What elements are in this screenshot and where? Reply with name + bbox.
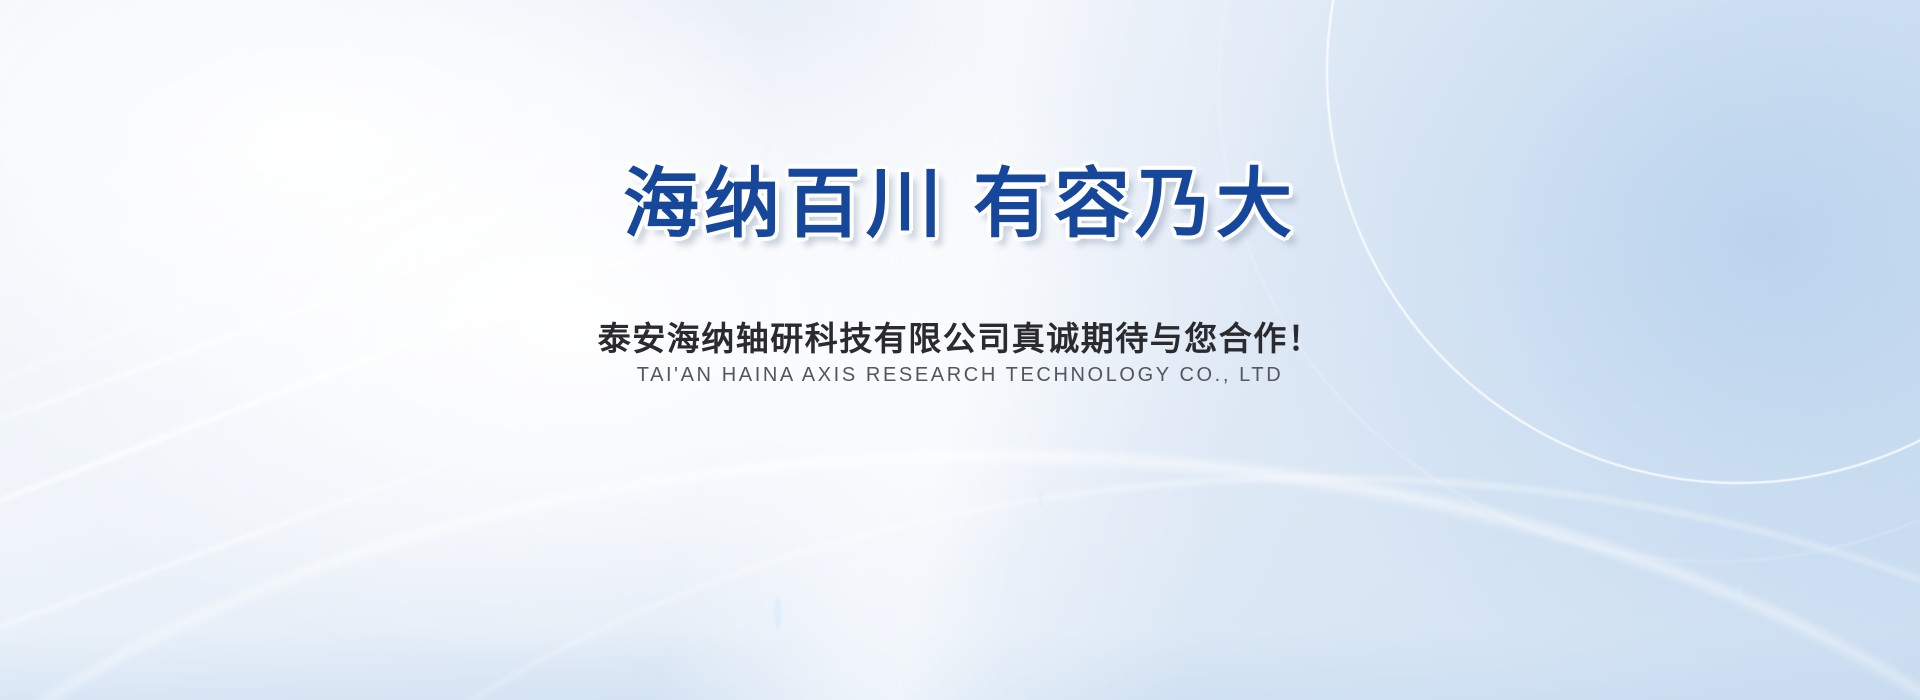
- banner-subtitle-chinese: 泰安海纳轴研科技有限公司真诚期待与您合作！: [0, 312, 1920, 360]
- hero-banner: 海纳百川 有容乃大 泰安海纳轴研科技有限公司真诚期待与您合作！ TAI'AN H…: [0, 0, 1920, 700]
- banner-headline: 海纳百川 有容乃大: [0, 163, 1920, 247]
- banner-subtitle-english: TAI'AN HAINA AXIS RESEARCH TECHNOLOGY CO…: [0, 364, 1920, 387]
- banner-content: 海纳百川 有容乃大 泰安海纳轴研科技有限公司真诚期待与您合作！ TAI'AN H…: [0, 0, 1920, 700]
